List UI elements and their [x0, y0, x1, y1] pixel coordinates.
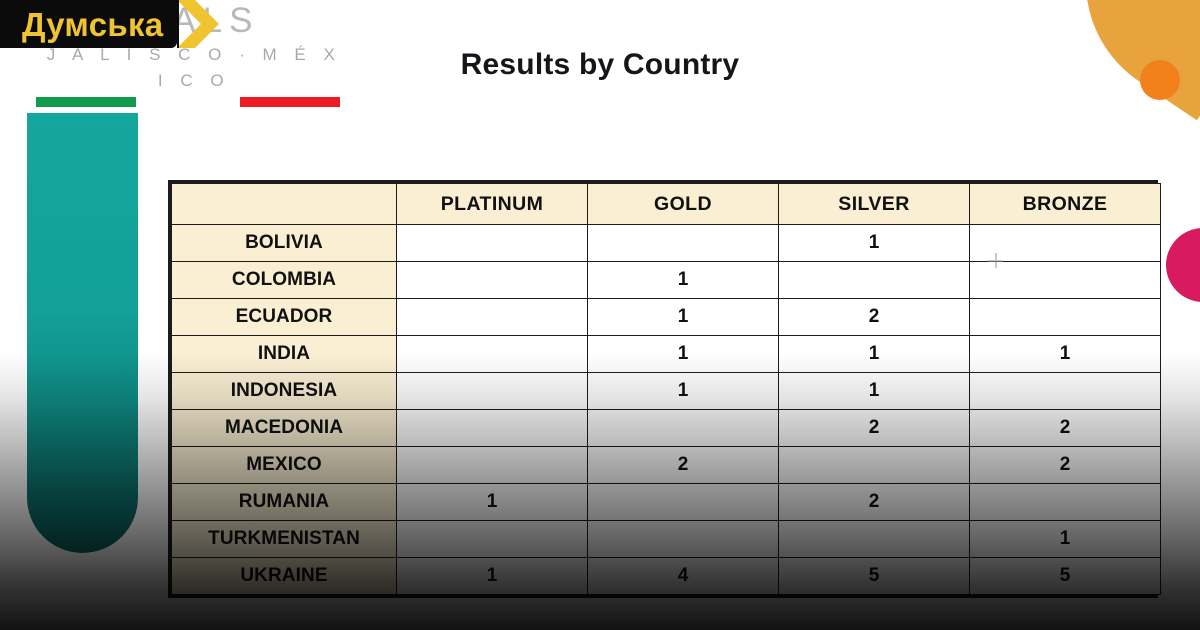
- medal-cell-bronze: 1: [970, 336, 1161, 373]
- medal-cell-gold: [588, 225, 779, 262]
- country-cell: MACEDONIA: [172, 410, 397, 447]
- medal-cell-silver: 5: [779, 558, 970, 595]
- results-table: PLATINUM GOLD SILVER BRONZE BOLIVIA1COLO…: [171, 183, 1161, 595]
- medal-cell-platinum: [397, 336, 588, 373]
- medal-cell-silver: 1: [779, 373, 970, 410]
- country-cell: BOLIVIA: [172, 225, 397, 262]
- medal-cell-gold: 1: [588, 336, 779, 373]
- watermark-brand-text: Думська: [22, 8, 163, 41]
- medal-cell-platinum: [397, 262, 588, 299]
- medal-cell-platinum: 1: [397, 484, 588, 521]
- column-header-country: [172, 184, 397, 225]
- medal-cell-platinum: [397, 521, 588, 558]
- page-title: Results by Country: [0, 48, 1200, 82]
- watermark-body: Думська: [0, 0, 177, 48]
- country-cell: INDONESIA: [172, 373, 397, 410]
- table-row: UKRAINE1455: [172, 558, 1161, 595]
- country-cell: TURKMENISTAN: [172, 521, 397, 558]
- medal-cell-silver: [779, 262, 970, 299]
- slide-screenshot: NALS J A L I S C O · M É X I C O Results…: [0, 0, 1200, 630]
- table-header: PLATINUM GOLD SILVER BRONZE: [172, 184, 1161, 225]
- medal-cell-gold: [588, 484, 779, 521]
- medal-cell-bronze: 2: [970, 447, 1161, 484]
- medal-cell-gold: 1: [588, 373, 779, 410]
- country-cell: INDIA: [172, 336, 397, 373]
- table-row: ECUADOR12: [172, 299, 1161, 336]
- flag-bar-red: [240, 97, 340, 107]
- medal-cell-gold: 2: [588, 447, 779, 484]
- medal-cell-bronze: [970, 225, 1161, 262]
- table-row: TURKMENISTAN1: [172, 521, 1161, 558]
- medal-cell-silver: 2: [779, 484, 970, 521]
- column-header-platinum: PLATINUM: [397, 184, 588, 225]
- medal-cell-gold: 4: [588, 558, 779, 595]
- decor-teal-pill: [27, 113, 138, 553]
- medal-cell-platinum: [397, 299, 588, 336]
- flag-bar-green: [36, 97, 136, 107]
- medal-cell-platinum: [397, 225, 588, 262]
- medal-cell-gold: 1: [588, 299, 779, 336]
- table-row: INDIA111: [172, 336, 1161, 373]
- medal-cell-bronze: [970, 484, 1161, 521]
- table-row: RUMANIA12: [172, 484, 1161, 521]
- results-table-container: PLATINUM GOLD SILVER BRONZE BOLIVIA1COLO…: [168, 180, 1158, 598]
- medal-cell-silver: 2: [779, 410, 970, 447]
- table-row: MEXICO22: [172, 447, 1161, 484]
- medal-cell-platinum: [397, 373, 588, 410]
- column-header-silver: SILVER: [779, 184, 970, 225]
- country-cell: MEXICO: [172, 447, 397, 484]
- medal-cell-gold: [588, 521, 779, 558]
- medal-cell-bronze: [970, 299, 1161, 336]
- column-header-gold: GOLD: [588, 184, 779, 225]
- country-cell: ECUADOR: [172, 299, 397, 336]
- medal-cell-silver: 1: [779, 336, 970, 373]
- chevron-right-icon: [177, 0, 221, 48]
- medal-cell-bronze: [970, 373, 1161, 410]
- table-body: BOLIVIA1COLOMBIA1ECUADOR12INDIA111INDONE…: [172, 225, 1161, 595]
- flag-bars: [30, 97, 350, 115]
- medal-cell-silver: [779, 447, 970, 484]
- country-cell: RUMANIA: [172, 484, 397, 521]
- medal-cell-bronze: 2: [970, 410, 1161, 447]
- medal-cell-gold: [588, 410, 779, 447]
- table-header-row: PLATINUM GOLD SILVER BRONZE: [172, 184, 1161, 225]
- column-header-bronze: BRONZE: [970, 184, 1161, 225]
- table-row: INDONESIA11: [172, 373, 1161, 410]
- medal-cell-silver: 2: [779, 299, 970, 336]
- medal-cell-bronze: 1: [970, 521, 1161, 558]
- country-cell: COLOMBIA: [172, 262, 397, 299]
- table-row: BOLIVIA1: [172, 225, 1161, 262]
- table-row: MACEDONIA22: [172, 410, 1161, 447]
- medal-cell-bronze: [970, 262, 1161, 299]
- medal-cell-platinum: 1: [397, 558, 588, 595]
- medal-cell-gold: 1: [588, 262, 779, 299]
- watermark-logo: Думська: [0, 0, 221, 48]
- medal-cell-bronze: 5: [970, 558, 1161, 595]
- medal-cell-platinum: [397, 447, 588, 484]
- country-cell: UKRAINE: [172, 558, 397, 595]
- medal-cell-silver: [779, 521, 970, 558]
- medal-cell-silver: 1: [779, 225, 970, 262]
- table-row: COLOMBIA1: [172, 262, 1161, 299]
- medal-cell-platinum: [397, 410, 588, 447]
